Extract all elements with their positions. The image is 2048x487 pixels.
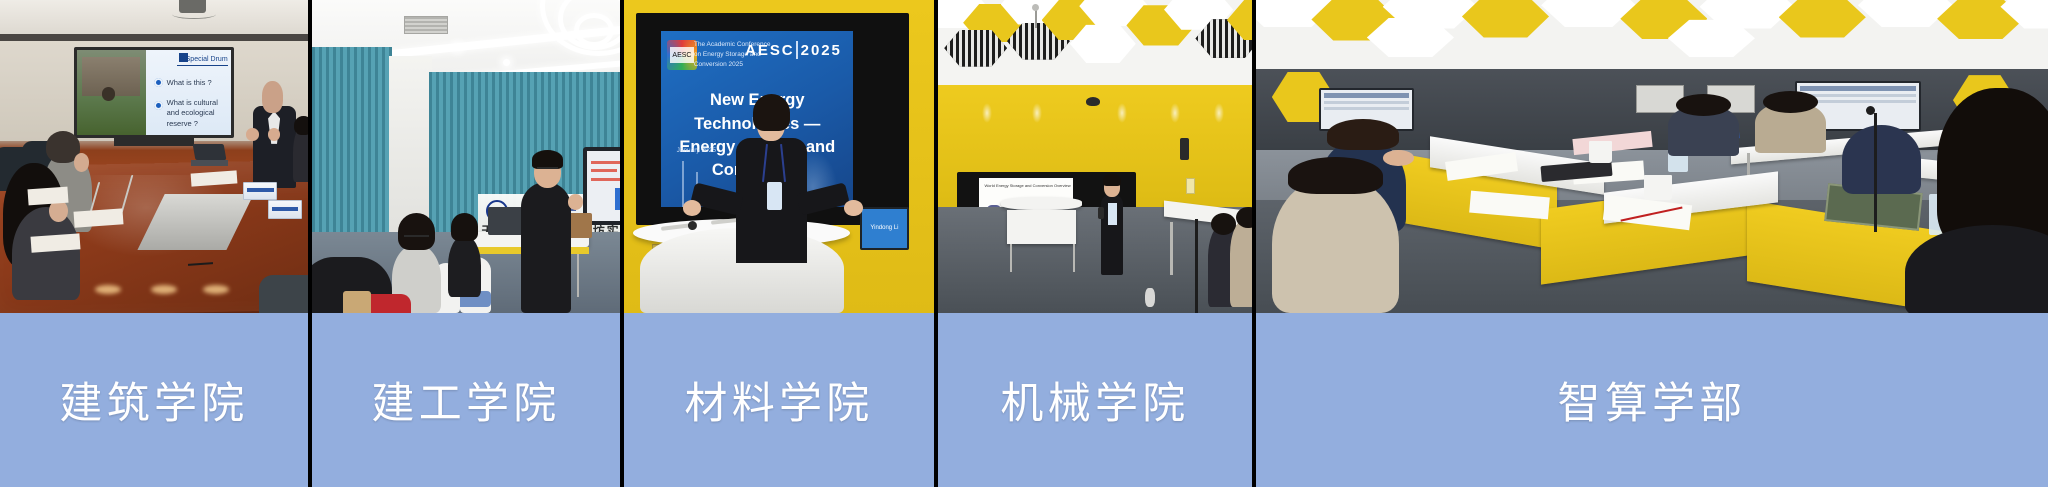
gallery-panel-intelligent-computing[interactable]: 智算学部 xyxy=(1256,0,2048,487)
name-plate-strip xyxy=(272,207,299,211)
presenter-hair xyxy=(1103,174,1121,187)
table-light-spot xyxy=(203,285,229,294)
name-plate-strip xyxy=(247,188,274,192)
bag xyxy=(343,291,371,313)
attendee-figure xyxy=(1230,219,1252,307)
speaker-hair xyxy=(753,94,790,132)
downlight xyxy=(454,44,461,51)
attendee-hair xyxy=(1211,213,1236,235)
dome-camera-icon xyxy=(1086,97,1100,106)
slide-bullet-text-2: What is cultural and ecological reserve … xyxy=(167,98,220,128)
paper-cup xyxy=(1589,141,1613,163)
attendee-hair xyxy=(451,213,479,241)
hex-panel-white xyxy=(1858,0,1953,27)
slide-drum-object xyxy=(102,87,116,101)
caption-materials: 材料学院 xyxy=(624,313,934,487)
display-line xyxy=(1324,93,1409,98)
slide-bullet-icon-2 xyxy=(154,101,163,110)
photo-gallery-strip: A Special Drum What is this ? What is cu… xyxy=(0,0,2048,487)
screen-mount xyxy=(114,136,194,145)
hex-panel-yellow xyxy=(1779,0,1866,38)
water-bottle xyxy=(1145,288,1154,307)
conference-logo-label: AESC xyxy=(670,47,694,64)
slide-photo-half xyxy=(77,50,146,135)
attendee-hair xyxy=(1676,94,1731,116)
ring-ceiling-light xyxy=(574,13,614,47)
conference-line-3: Conversion 2025 xyxy=(694,60,779,70)
attendee-figure xyxy=(1272,175,1399,313)
slide-bullet-icon-1 xyxy=(154,78,163,87)
presenter-glasses-icon xyxy=(537,167,559,169)
wall-light-wash xyxy=(1170,103,1180,123)
gallery-panel-materials[interactable]: AESC The Academic Conference on Energy S… xyxy=(624,0,938,487)
podium-nameplate-tablet: Yindong Li xyxy=(860,207,910,251)
slide-bar xyxy=(591,161,620,164)
hex-panel-yellow xyxy=(1462,0,1549,38)
display-line xyxy=(1324,107,1409,110)
laptop xyxy=(488,207,525,235)
hexagon-ceiling xyxy=(1256,0,2048,75)
attendee-hair xyxy=(1327,119,1398,150)
desk-leg xyxy=(1073,244,1075,272)
document-sheet xyxy=(27,186,68,204)
presentation-screen: A Special Drum What is this ? What is cu… xyxy=(74,47,234,138)
slide-bullet-text-1: What is this ? xyxy=(167,78,220,88)
desk-box xyxy=(568,213,593,238)
window-blinds xyxy=(312,47,392,235)
speaker-hand xyxy=(844,200,863,216)
table-light-spot xyxy=(151,285,177,294)
caption-architecture: 建筑学院 xyxy=(0,313,308,487)
photo-seminar-room xyxy=(1256,0,2048,313)
caption-civil-engineering: 建工学院 xyxy=(312,313,620,487)
mic-stand xyxy=(1874,113,1877,232)
attendee-hair xyxy=(1288,157,1383,195)
attendee-hand xyxy=(1383,150,1415,166)
wall-light-wash xyxy=(982,103,992,123)
wall-plate xyxy=(1186,178,1195,194)
caption-intelligent-computing: 智算学部 xyxy=(1256,313,2048,487)
display-line xyxy=(1800,86,1917,91)
floor xyxy=(938,207,1252,313)
office-chair-back xyxy=(259,275,308,313)
hexagon-ceiling xyxy=(938,0,1252,88)
photo-yellow-hall: AESC The Academic Conference on Energy S… xyxy=(624,0,934,313)
desk-leg xyxy=(577,254,579,298)
presenter-hand xyxy=(568,194,583,210)
presenter-figure xyxy=(521,182,570,313)
laptop-base xyxy=(191,160,228,166)
microphone xyxy=(1098,207,1104,220)
gallery-panel-architecture[interactable]: A Special Drum What is this ? What is cu… xyxy=(0,0,312,487)
photo-classroom-blinds: 天津大学 Tianjin University 天津大学笔琸工作坊实验室 Pen… xyxy=(312,0,620,313)
table-light-spot xyxy=(95,285,121,294)
ceiling-vent xyxy=(404,16,447,35)
wall-light-wash xyxy=(1117,103,1127,123)
attendee-hand xyxy=(49,200,67,222)
wind-turbine-icon xyxy=(682,161,684,207)
presenter-desk xyxy=(1001,197,1083,210)
presenter-desk-body xyxy=(1007,210,1076,244)
wall-panel xyxy=(389,56,432,231)
slide-bar xyxy=(591,169,617,172)
paper-cup xyxy=(1644,175,1672,200)
event-code: AESC 2025 xyxy=(745,42,842,59)
wall-speaker xyxy=(1180,138,1189,160)
attendee-hair xyxy=(294,116,308,135)
slide-bar xyxy=(591,178,620,181)
slide-header-rule xyxy=(177,65,228,66)
presenter-hair xyxy=(532,150,563,169)
conference-logo-icon: AESC xyxy=(667,40,697,70)
display-line xyxy=(1324,101,1409,104)
laptop xyxy=(193,144,227,160)
attendee-figure xyxy=(448,235,482,298)
attendee-figure xyxy=(12,207,80,301)
desk-leg xyxy=(1010,244,1012,272)
gallery-panel-civil-engineering[interactable]: 天津大学 Tianjin University 天津大学笔琸工作坊实验室 Pen… xyxy=(312,0,624,487)
mic-stand xyxy=(1195,219,1198,313)
slide-header-text: A Special Drum xyxy=(179,56,227,63)
photo-hexagon-room: World Energy Storage and Conversion Over… xyxy=(938,0,1252,313)
map-slide-title: World Energy Storage and Conversion Over… xyxy=(984,183,1070,188)
name-plate xyxy=(268,200,302,219)
presenter-figure xyxy=(253,106,296,187)
presenter-hand xyxy=(246,128,258,141)
presenter-lanyard xyxy=(1108,203,1117,225)
document-sheet xyxy=(30,233,80,252)
name-plate xyxy=(243,182,277,201)
slide-chart xyxy=(615,188,620,210)
attendee-figure xyxy=(1842,125,1921,194)
hex-panel-white xyxy=(1541,0,1636,27)
attendee-hair xyxy=(398,213,435,251)
caption-mechanical: 机械学院 xyxy=(938,313,1252,487)
slide-date: January 2025 xyxy=(677,147,716,154)
speaker-badge xyxy=(767,182,783,210)
attendee-hair xyxy=(1763,91,1818,113)
desk-leg xyxy=(1170,222,1173,275)
ceiling-cable xyxy=(172,9,215,18)
wall-light-wash xyxy=(1214,103,1224,123)
wall-light-wash xyxy=(1032,103,1042,123)
nameplate-name: Yindong Li xyxy=(862,209,908,249)
document-sheet xyxy=(73,208,123,227)
presenter-head xyxy=(262,81,284,112)
slide-text-half: A Special Drum What is this ? What is cu… xyxy=(146,50,231,135)
presenter-hand xyxy=(268,128,280,141)
display-line xyxy=(1800,94,1917,97)
gallery-panel-mechanical[interactable]: World Energy Storage and Conversion Over… xyxy=(938,0,1256,487)
attendee-glasses-icon xyxy=(404,235,429,237)
photo-conference-room: A Special Drum What is this ? What is cu… xyxy=(0,0,308,313)
